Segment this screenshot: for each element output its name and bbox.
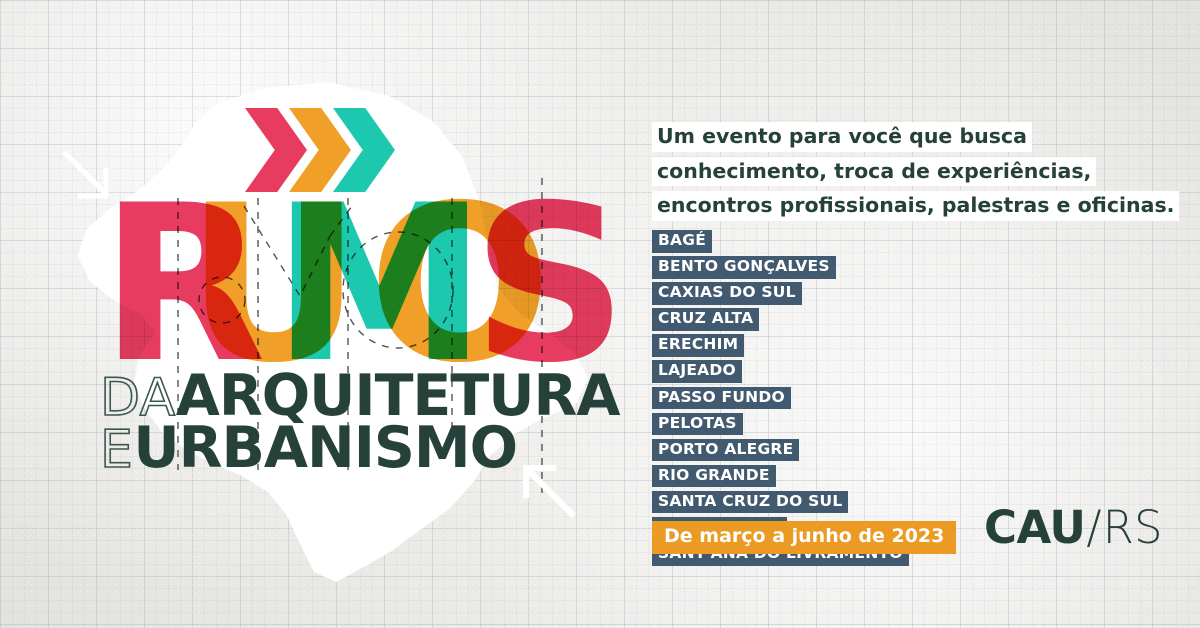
headline-line: conhecimento, troca de experiências,	[652, 157, 1096, 187]
event-banner: R U M O S DA ARQUITETURA E URBANISMO Um …	[0, 0, 1200, 628]
list-item: RIO GRANDE	[652, 465, 776, 488]
list-item: CAXIAS DO SUL	[652, 282, 802, 305]
list-item: ERECHIM	[652, 334, 744, 357]
list-item: SANTA CRUZ DO SUL	[652, 491, 848, 514]
logo-rs-text: RS	[1103, 505, 1163, 550]
rumos-letter-s: S	[472, 205, 615, 365]
subtitle-prefix-e: E	[100, 424, 133, 476]
list-item: BAGÉ	[652, 230, 712, 253]
list-item: BENTO GONÇALVES	[652, 256, 836, 279]
headline-block: Um evento para você que busca conhecimen…	[652, 122, 1122, 226]
list-item: PASSO FUNDO	[652, 387, 791, 410]
headline-line: encontros profissionais, palestras e ofi…	[652, 191, 1179, 221]
subtitle-block: DA ARQUITETURA E URBANISMO	[100, 368, 580, 478]
date-badge: De março a junho de 2023	[652, 521, 956, 554]
subtitle-line-2: E URBANISMO	[100, 420, 580, 478]
list-item: PORTO ALEGRE	[652, 439, 799, 462]
artwork-panel: R U M O S DA ARQUITETURA E URBANISMO	[0, 0, 640, 628]
subtitle-urbanismo: URBANISMO	[133, 420, 517, 477]
list-item: PELOTAS	[652, 413, 743, 436]
rumos-wordmark: R U M O S	[100, 205, 570, 370]
headline-line: Um evento para você que busca	[652, 122, 1032, 152]
list-item: LAJEADO	[652, 360, 742, 383]
list-item: CRUZ ALTA	[652, 308, 759, 331]
logo-slash: /	[1085, 505, 1102, 550]
cau-rs-logo: CAU / RS	[984, 505, 1163, 550]
info-panel: Um evento para você que busca conhecimen…	[652, 0, 1200, 628]
logo-cau-text: CAU	[984, 505, 1085, 550]
